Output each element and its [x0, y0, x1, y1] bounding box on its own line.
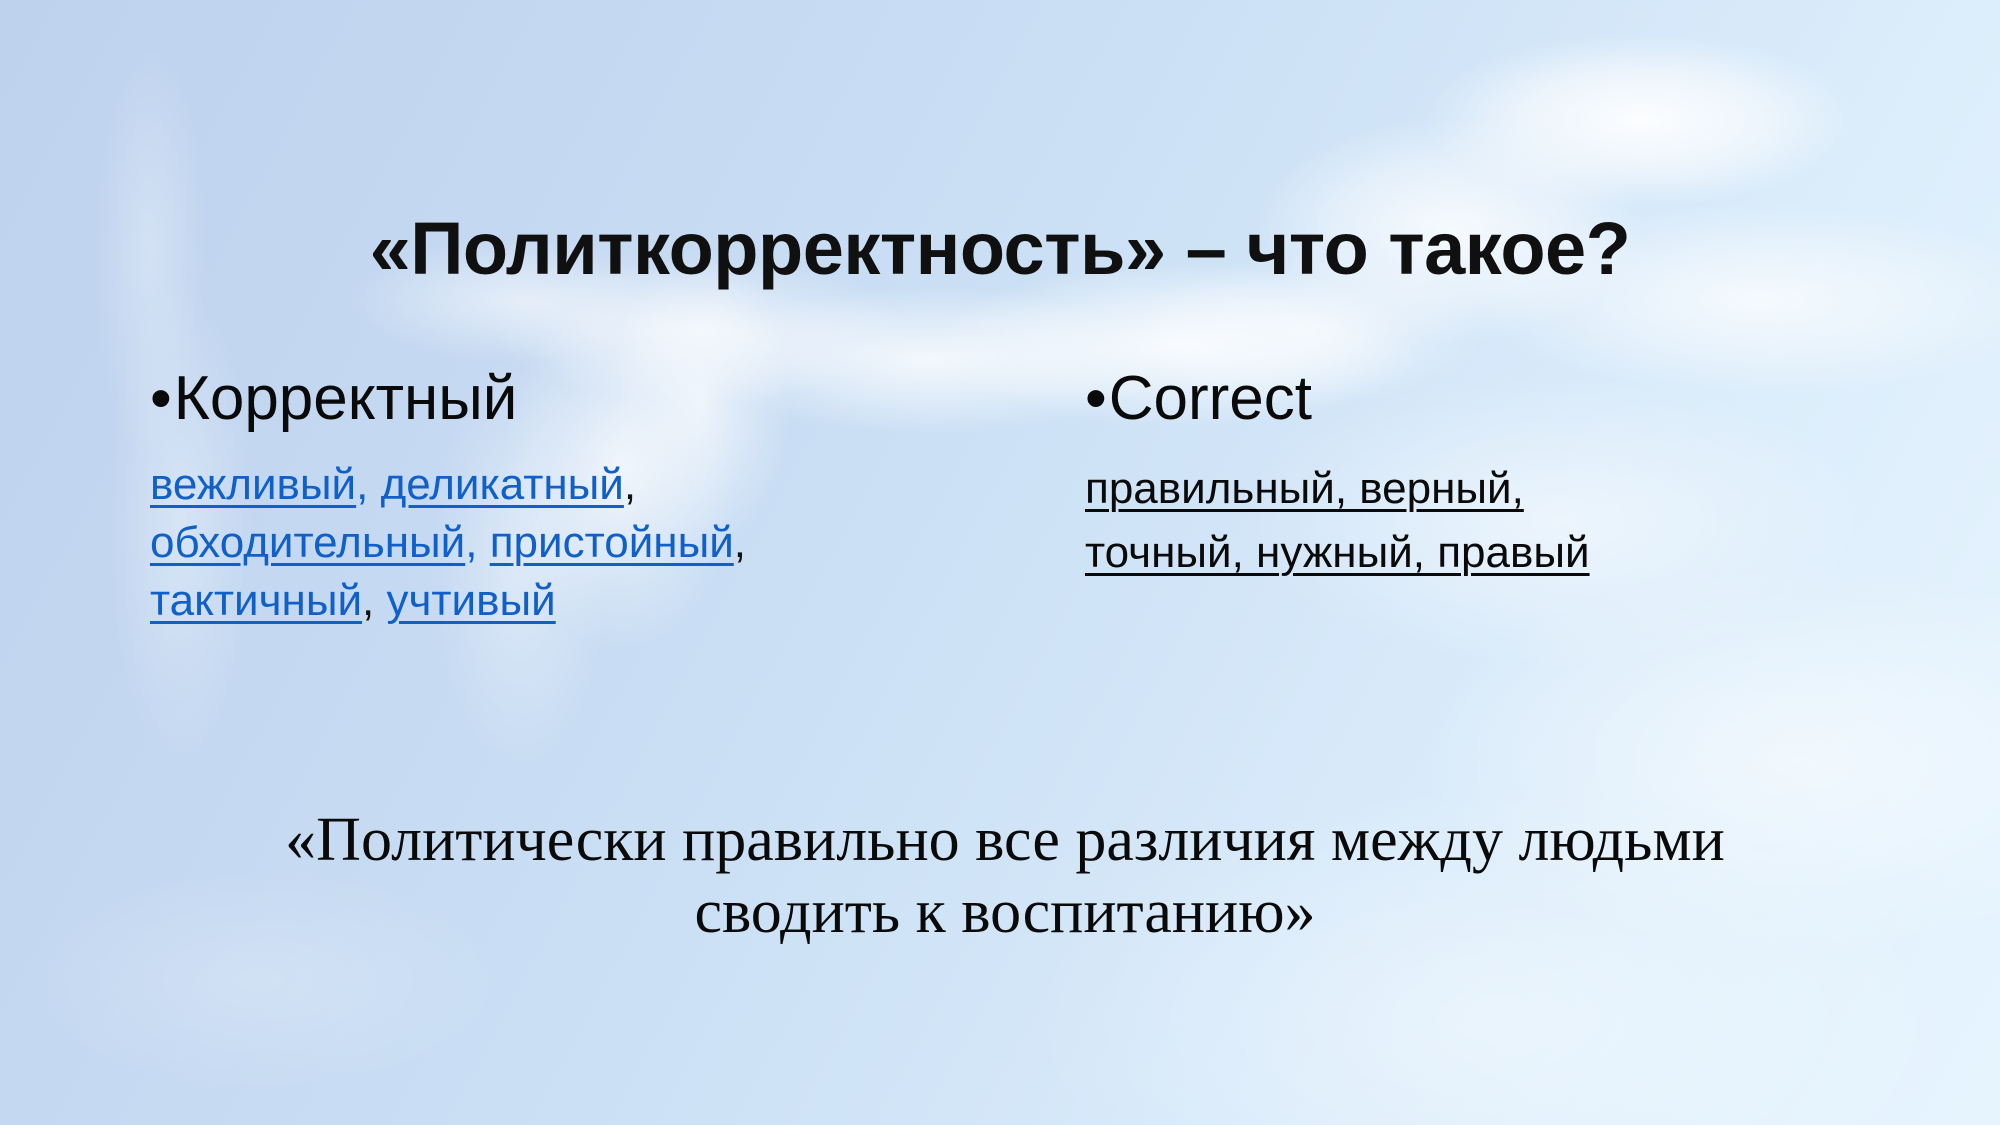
- bullet-dot-icon: •: [150, 368, 172, 430]
- synonym-link[interactable]: учтивый: [386, 576, 555, 625]
- synonym-line: правильный, верный,: [1085, 460, 1955, 524]
- synonym-line: обходительный, пристойный,: [150, 514, 1050, 572]
- synonym-text: ,: [465, 518, 489, 567]
- synonym-list-english: правильный, верный, точный, нужный, прав…: [1085, 460, 1955, 588]
- column-russian: • Корректный вежливый, деликатный,обходи…: [150, 368, 1050, 630]
- synonym-line: вежливый, деликатный,: [150, 456, 1050, 514]
- slide-content: «Политкорректность» – что такое? • Корре…: [0, 0, 2000, 1125]
- bullet-item-correct: • Correct: [1085, 368, 1955, 430]
- synonym-link[interactable]: пристойный: [490, 518, 734, 567]
- synonym-link[interactable]: деликатный: [381, 460, 624, 509]
- closing-quote: «Политически правильно все различия межд…: [110, 805, 1900, 949]
- quote-line-1: «Политически правильно все различия межд…: [110, 805, 1900, 877]
- synonym-text: ,: [734, 518, 746, 567]
- synonym-link[interactable]: вежливый: [150, 460, 356, 509]
- synonym-text: точный, нужный, правый: [1085, 528, 1590, 577]
- bullet-item-korrektny: • Корректный: [150, 368, 1050, 430]
- synonym-text: правильный, верный,: [1085, 464, 1524, 513]
- slide-title: «Политкорректность» – что такое?: [0, 210, 2000, 288]
- bullet-label-korrektny: Корректный: [174, 368, 518, 430]
- synonym-list-russian: вежливый, деликатный,обходительный, прис…: [150, 456, 1050, 630]
- synonym-text: ,: [624, 460, 636, 509]
- bullet-dot-icon: •: [1085, 368, 1107, 430]
- synonym-link[interactable]: тактичный: [150, 576, 362, 625]
- synonym-text: ,: [356, 460, 380, 509]
- slide-canvas: «Политкорректность» – что такое? • Корре…: [0, 0, 2000, 1125]
- column-english: • Correct правильный, верный, точный, ну…: [1085, 368, 1955, 588]
- synonym-line: тактичный, учтивый: [150, 572, 1050, 630]
- synonym-link[interactable]: обходительный: [150, 518, 465, 567]
- quote-line-2: сводить к воспитанию»: [110, 877, 1900, 949]
- synonym-text: ,: [362, 576, 386, 625]
- synonym-line: точный, нужный, правый: [1085, 524, 1955, 588]
- bullet-label-correct: Correct: [1109, 368, 1312, 430]
